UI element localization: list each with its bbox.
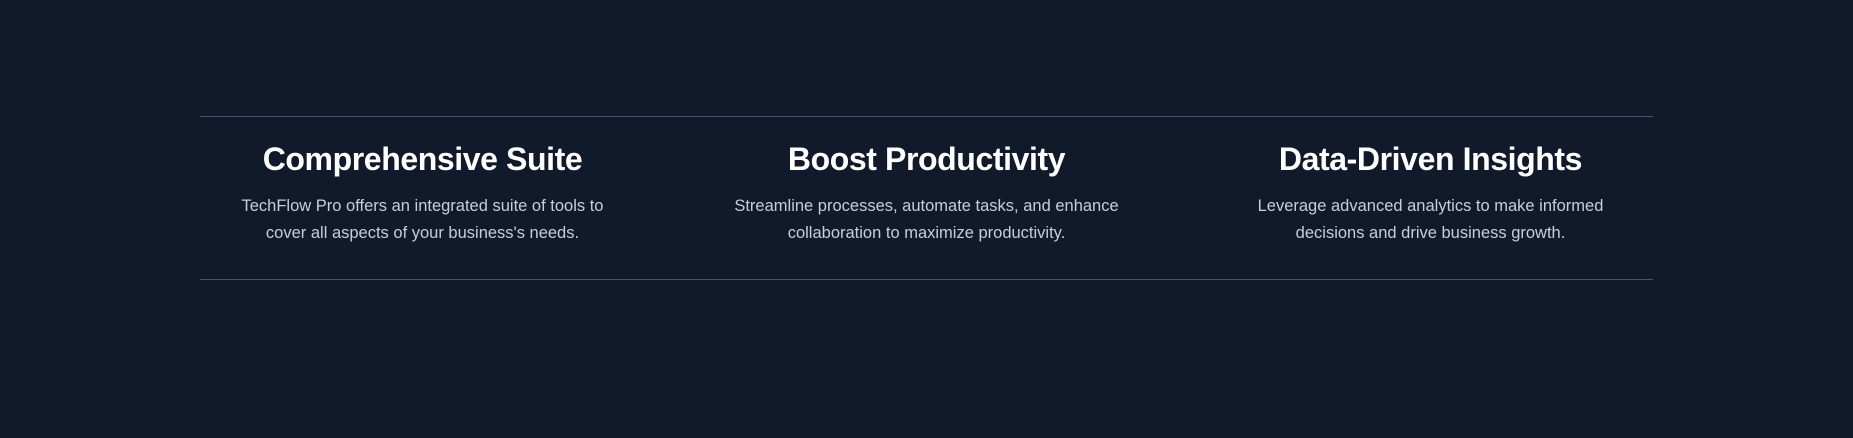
feature-title: Boost Productivity [707, 139, 1147, 179]
feature-title: Comprehensive Suite [200, 139, 645, 179]
feature-highlights-section: Comprehensive Suite TechFlow Pro offers … [0, 0, 1853, 438]
feature-column-data-driven-insights: Data-Driven Insights Leverage advanced a… [1208, 139, 1653, 247]
feature-description: TechFlow Pro offers an integrated suite … [223, 193, 623, 247]
bottom-divider [200, 279, 1653, 280]
feature-content-wrapper: Comprehensive Suite TechFlow Pro offers … [200, 116, 1653, 280]
feature-title: Data-Driven Insights [1208, 139, 1653, 179]
feature-description: Streamline processes, automate tasks, an… [731, 193, 1123, 247]
feature-columns: Comprehensive Suite TechFlow Pro offers … [200, 117, 1653, 279]
feature-column-boost-productivity: Boost Productivity Streamline processes,… [707, 139, 1147, 247]
feature-column-comprehensive-suite: Comprehensive Suite TechFlow Pro offers … [200, 139, 645, 247]
feature-description: Leverage advanced analytics to make info… [1235, 193, 1627, 247]
